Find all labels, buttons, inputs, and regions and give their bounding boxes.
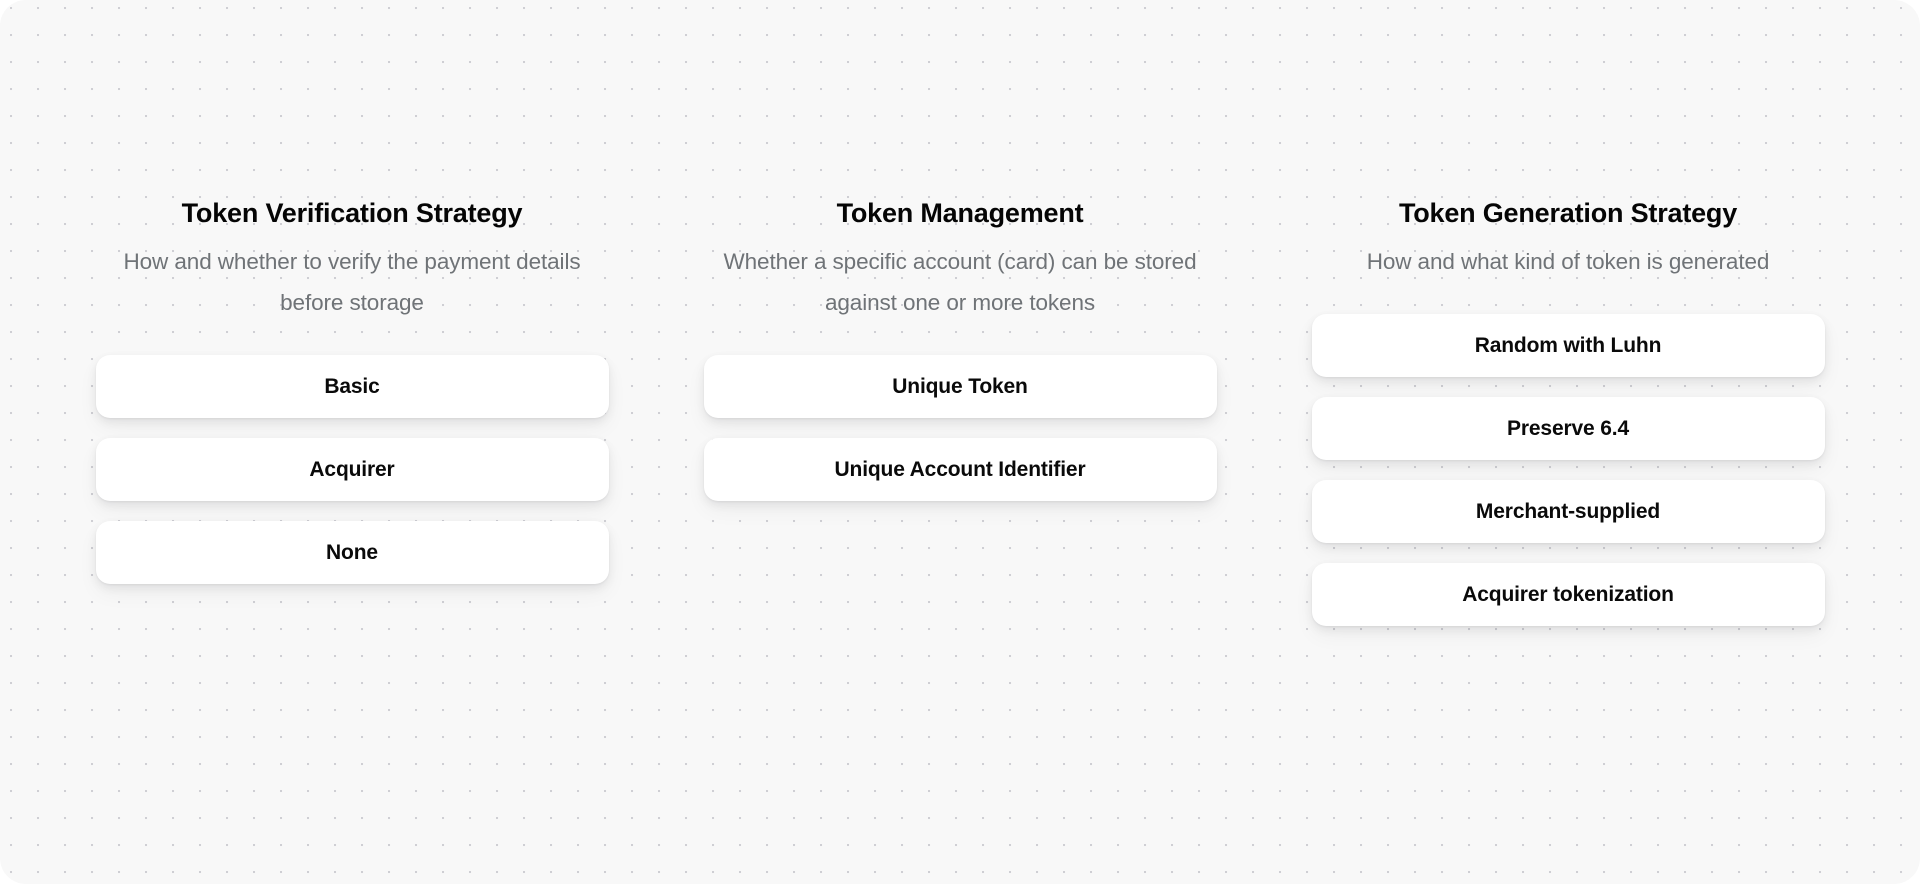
column-title: Token Generation Strategy [1318, 196, 1819, 230]
option-card[interactable]: Acquirer [96, 438, 609, 501]
column-subtitle: Whether a specific account (card) can be… [710, 241, 1211, 323]
columns-container: Token Verification Strategy How and whet… [0, 0, 1920, 884]
option-card-label: Random with Luhn [1461, 333, 1676, 359]
column-token-management: Token Management Whether a specific acco… [704, 196, 1217, 501]
column-header: Token Management Whether a specific acco… [704, 196, 1217, 323]
option-card[interactable]: Unique Token [704, 355, 1217, 418]
column-token-verification-strategy: Token Verification Strategy How and whet… [96, 196, 609, 584]
option-card-label: Merchant-supplied [1462, 499, 1674, 525]
option-card[interactable]: Preserve 6.4 [1312, 397, 1825, 460]
option-card-label: Unique Token [878, 374, 1041, 400]
tokenization-options-board: Token Verification Strategy How and whet… [0, 0, 1920, 884]
option-card[interactable]: Merchant-supplied [1312, 480, 1825, 543]
option-card-label: Unique Account Identifier [821, 457, 1100, 483]
column-header: Token Verification Strategy How and whet… [96, 196, 609, 323]
option-card[interactable]: Random with Luhn [1312, 314, 1825, 377]
column-subtitle: How and whether to verify the payment de… [102, 241, 603, 323]
option-card-label: None [312, 540, 392, 566]
option-card-label: Preserve 6.4 [1493, 416, 1643, 442]
option-card-list: Basic Acquirer None [96, 355, 609, 584]
option-card-list: Random with Luhn Preserve 6.4 Merchant-s… [1312, 314, 1825, 626]
option-card[interactable]: None [96, 521, 609, 584]
option-card[interactable]: Basic [96, 355, 609, 418]
option-card-label: Acquirer [295, 457, 408, 483]
option-card[interactable]: Unique Account Identifier [704, 438, 1217, 501]
option-card-list: Unique Token Unique Account Identifier [704, 355, 1217, 501]
column-token-generation-strategy: Token Generation Strategy How and what k… [1312, 196, 1825, 626]
column-header: Token Generation Strategy How and what k… [1312, 196, 1825, 282]
column-title: Token Verification Strategy [102, 196, 603, 230]
column-subtitle: How and what kind of token is generated [1318, 241, 1819, 282]
option-card-label: Basic [310, 374, 393, 400]
option-card-label: Acquirer tokenization [1448, 582, 1688, 608]
column-title: Token Management [710, 196, 1211, 230]
option-card[interactable]: Acquirer tokenization [1312, 563, 1825, 626]
